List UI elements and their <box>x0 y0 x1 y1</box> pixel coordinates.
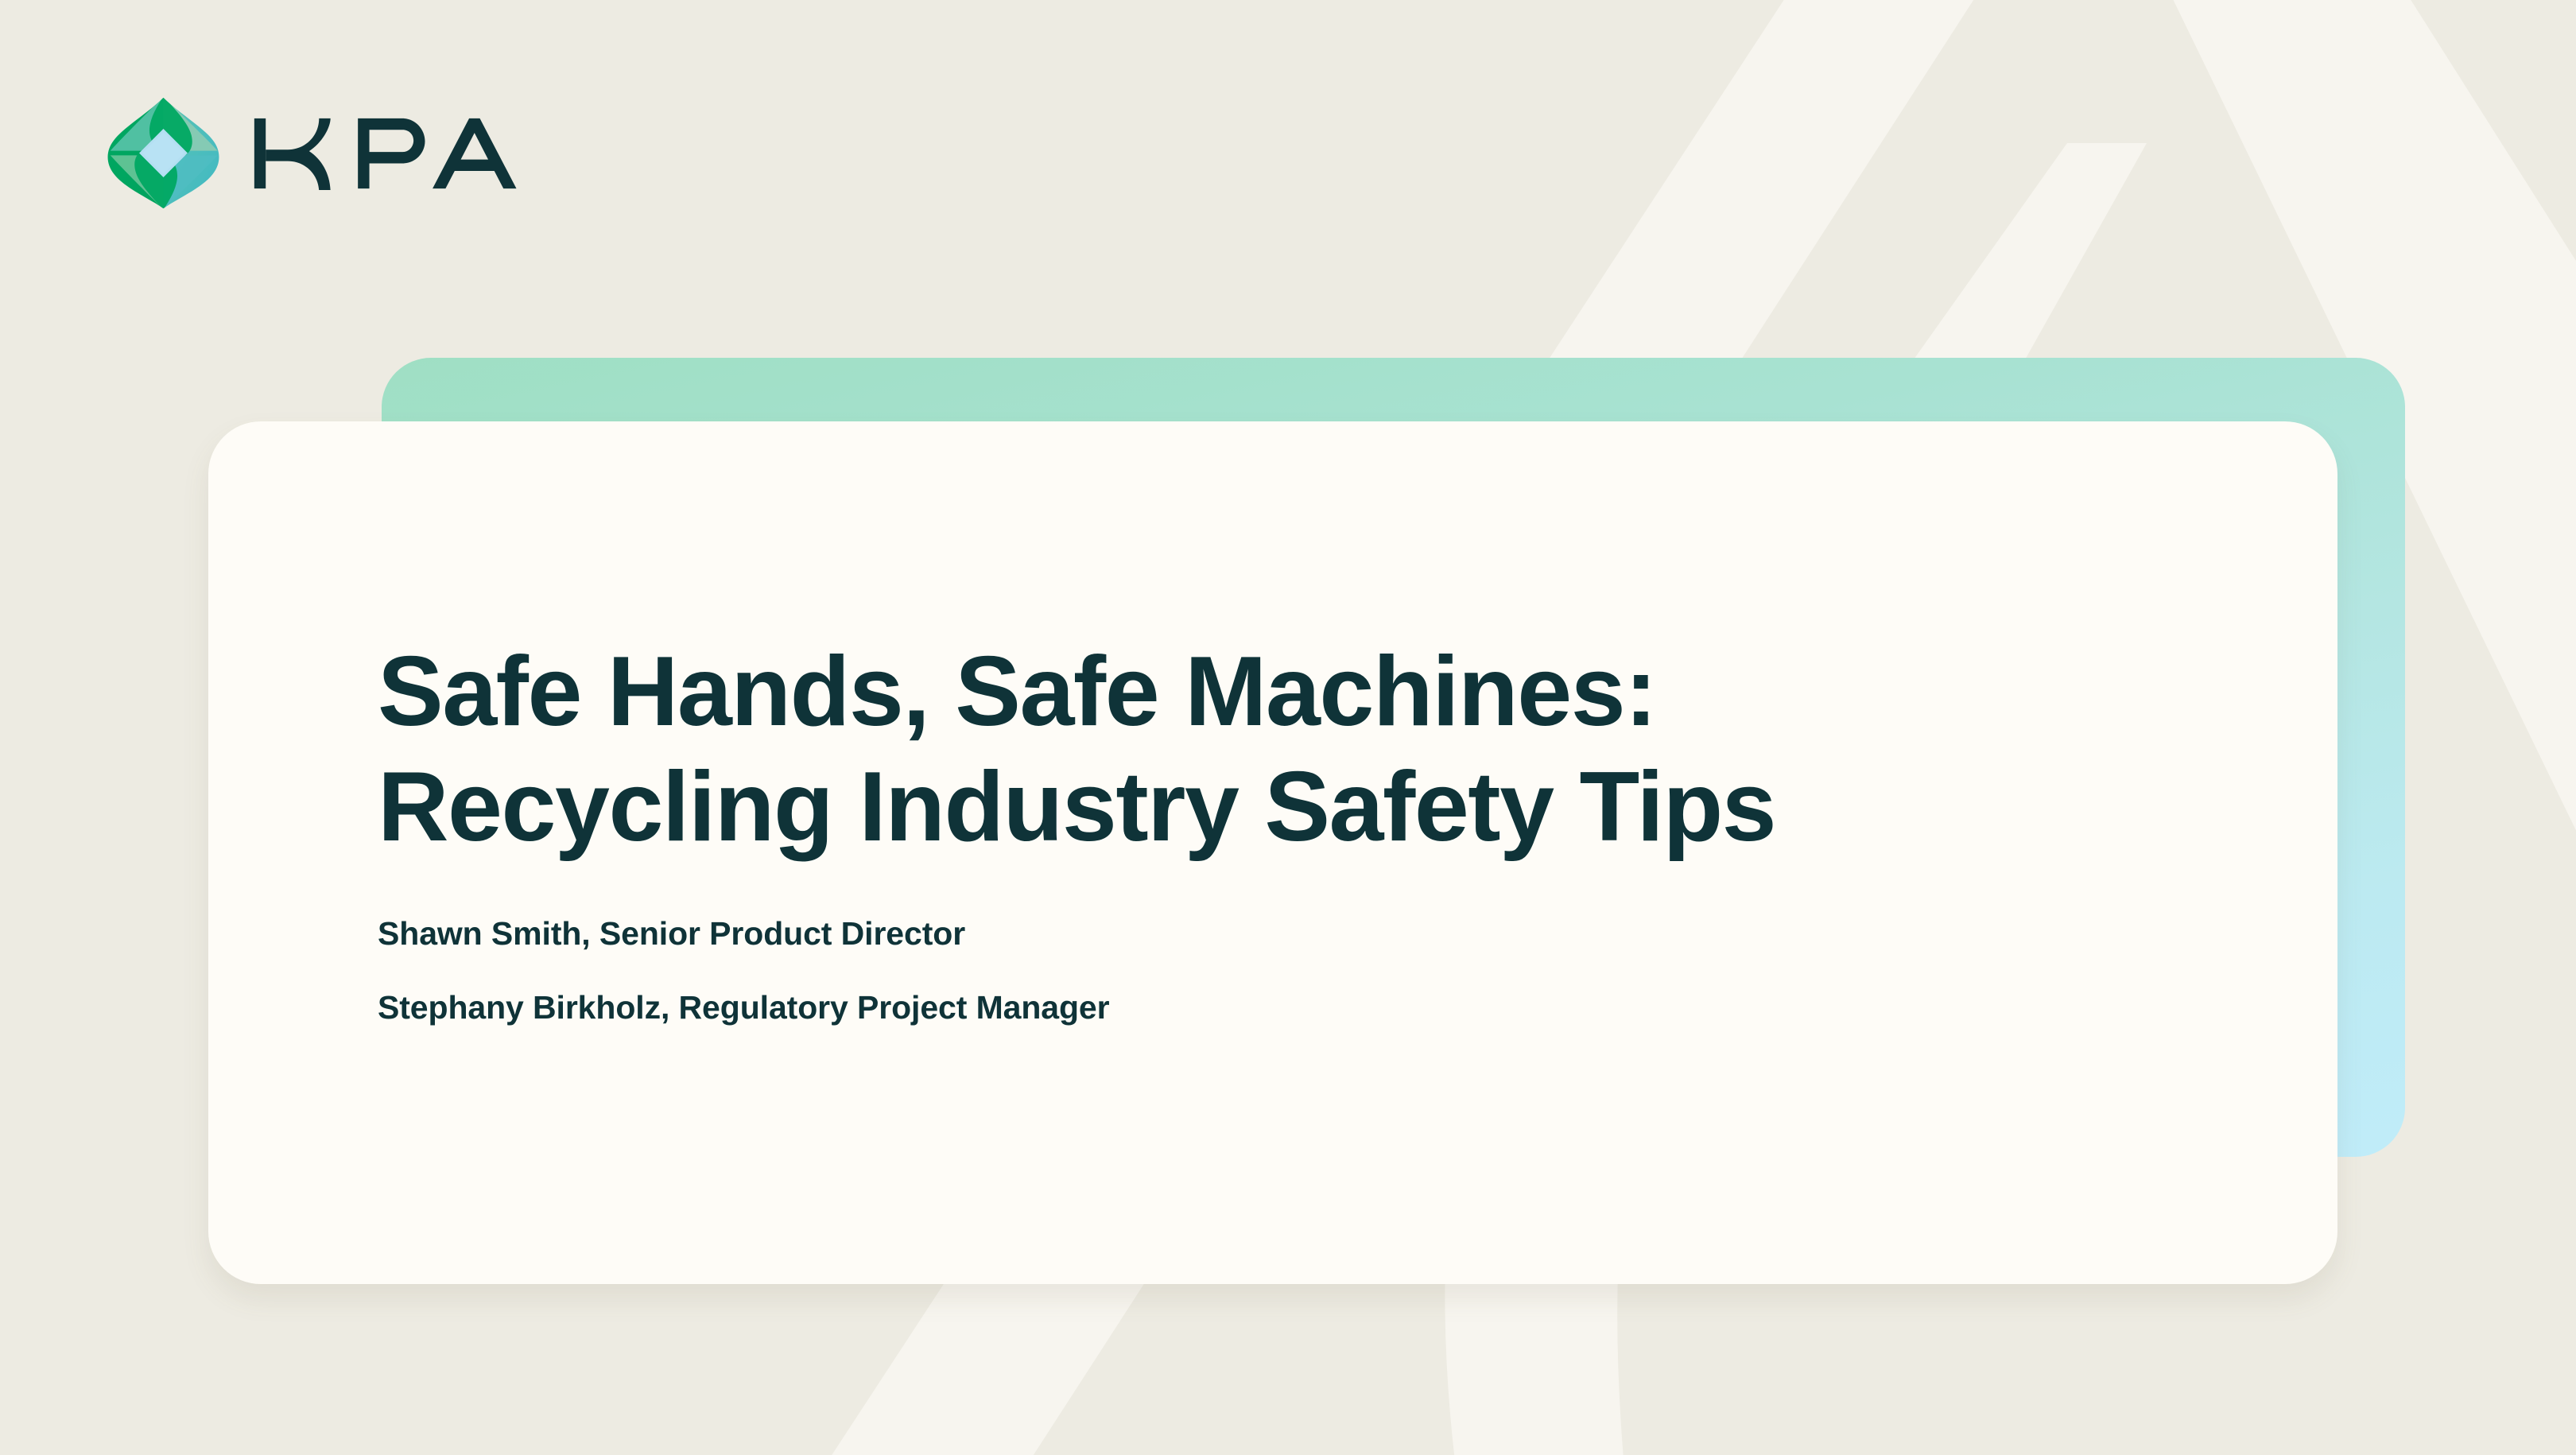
presenter-name-primary: Shawn Smith, Senior Product Director <box>378 914 1109 953</box>
presenter-name-secondary: Stephany Birkholz, Regulatory Project Ma… <box>378 988 1109 1027</box>
content-card-inner: Safe Hands, Safe Machines: Recycling Ind… <box>378 421 2274 1284</box>
presenter-list: Shawn Smith, Senior Product Director Ste… <box>378 914 1109 1027</box>
content-card: Safe Hands, Safe Machines: Recycling Ind… <box>208 421 2337 1284</box>
kpa-wordmark <box>251 117 572 190</box>
page-title: Safe Hands, Safe Machines: Recycling Ind… <box>378 634 1775 865</box>
brand-logo <box>106 95 572 211</box>
title-slide: Safe Hands, Safe Machines: Recycling Ind… <box>0 0 2576 1455</box>
kpa-diamond-logo-icon <box>106 95 221 211</box>
